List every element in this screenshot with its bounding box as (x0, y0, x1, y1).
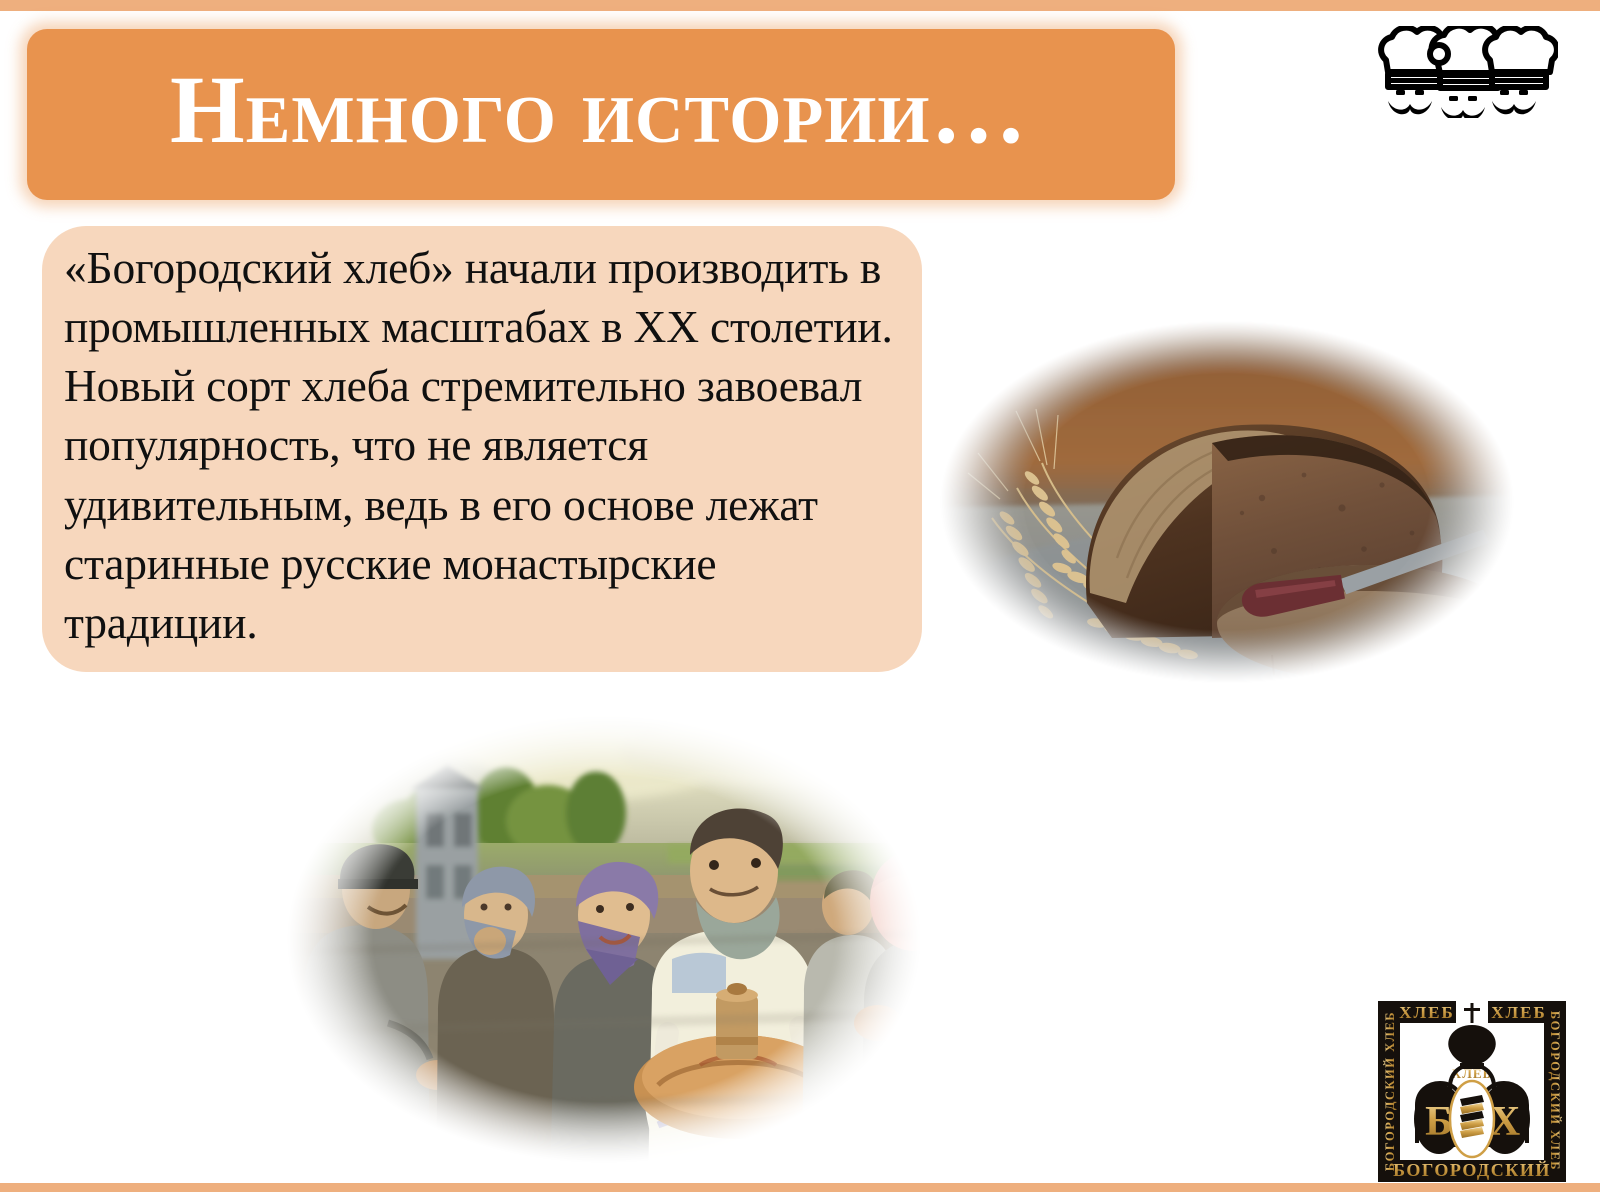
chef-hats-icon (1372, 26, 1558, 118)
body-text-card: «Богородский хлеб» начали производить в … (42, 226, 922, 672)
logo-right-side-word: БОГОРОДСКИЙ ХЛЕБ (1548, 1011, 1562, 1171)
logo-bread-emblem (1450, 1081, 1494, 1157)
bottom-decorative-band (0, 1183, 1600, 1192)
page-title: Немного истории… (170, 62, 1027, 158)
top-decorative-band (0, 0, 1600, 11)
bogorodsky-bread-logo: ХЛЕБ ХЛЕБ БОГОРОДСКИЙ БОГОРОДСКИЙ ХЛЕБ Б… (1372, 995, 1572, 1188)
logo-monogram-left: Б (1425, 1099, 1453, 1145)
bread-photo (912, 303, 1542, 701)
painting-photo (248, 693, 960, 1185)
logo-left-side-word: БОГОРОДСКИЙ ХЛЕБ (1383, 1011, 1397, 1171)
logo-bottom-word: БОГОРОДСКИЙ (1393, 1159, 1551, 1180)
logo-top-left-word: ХЛЕБ (1399, 1003, 1455, 1022)
body-text: «Богородский хлеб» начали производить в … (64, 238, 904, 652)
logo-top-right-word: ХЛЕБ (1491, 1003, 1547, 1022)
